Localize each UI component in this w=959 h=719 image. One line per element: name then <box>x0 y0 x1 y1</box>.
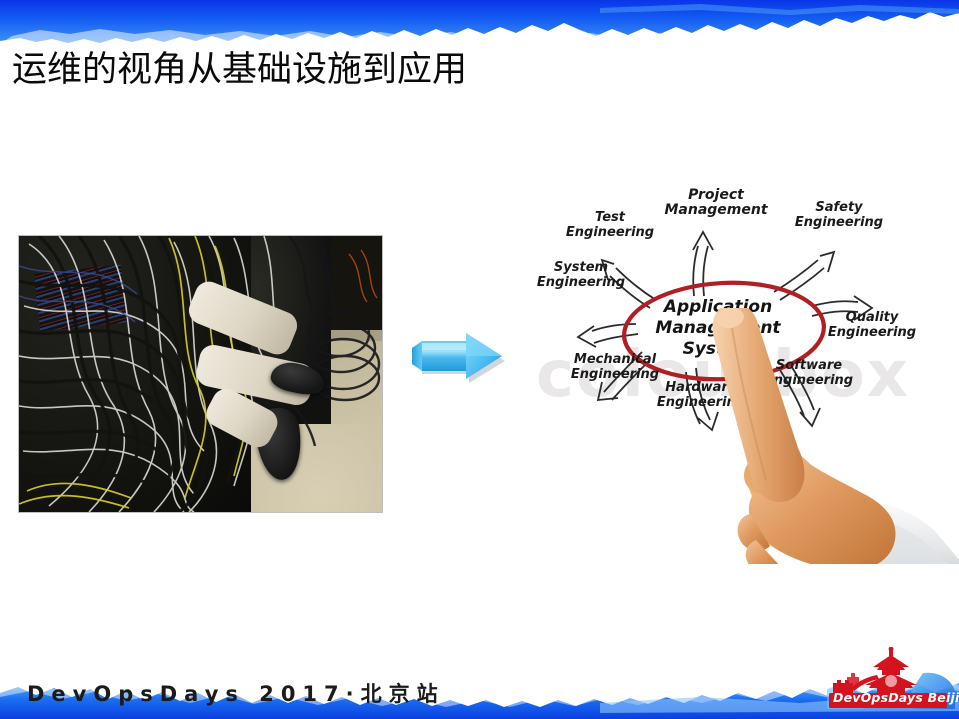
slide-canvas: 运维的视角从基础设施到应用 <box>0 0 959 719</box>
diagram-node-system-engineering: System Engineering <box>528 260 640 290</box>
diagram-node-safety-engineering: Safety Engineering <box>776 200 902 230</box>
page-title: 运维的视角从基础设施到应用 <box>12 48 467 92</box>
diagram-node-project-management: Project Management <box>646 188 786 218</box>
pointing-hand <box>678 308 959 564</box>
top-blue-brush-band <box>0 0 959 44</box>
application-management-diagram: colourbox <box>528 168 959 564</box>
devopsdays-beijing-logo: DevOpsDays Beijing <box>827 647 955 709</box>
right-arrow-icon <box>408 330 508 390</box>
cable-mess-photo <box>19 236 382 512</box>
logo-wordmark: DevOpsDays Beijing <box>833 690 949 705</box>
footer-event-label: DevOpsDays 2017·北京站 <box>27 678 445 708</box>
diagram-node-mechanical-engineering: Mechanical Engineering <box>550 352 680 382</box>
